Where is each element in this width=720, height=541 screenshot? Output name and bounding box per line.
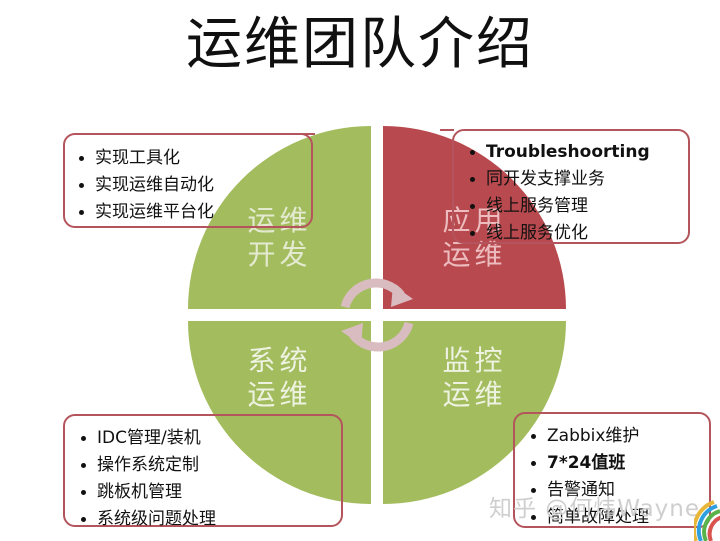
list-item: 系统级问题处理 <box>77 506 341 533</box>
list-item: 告警通知 <box>527 477 709 504</box>
list-item: 操作系统定制 <box>77 452 341 479</box>
list-item: IDC管理/装机 <box>77 425 341 452</box>
callout-list-bottom-left: IDC管理/装机 操作系统定制 跳板机管理 系统级问题处理 <box>65 416 341 533</box>
list-item: 线上服务优化 <box>466 220 688 247</box>
page-title: 运维团队介绍 <box>0 12 720 78</box>
slide-canvas: 运维团队介绍 运维 开发 应用 运维 系统 运维 监控 运维 <box>0 0 720 541</box>
callout-box-top-right[interactable]: Troubleshoorting 同开发支撑业务 线上服务管理 线上服务优化 <box>452 129 690 244</box>
list-item: 7*24值班 <box>527 450 709 477</box>
list-item: 实现运维自动化 <box>75 172 311 199</box>
list-item: 线上服务管理 <box>466 193 688 220</box>
list-item: 跳板机管理 <box>77 479 341 506</box>
list-item: 简单故障处理 <box>527 504 709 531</box>
callout-box-bottom-left[interactable]: IDC管理/装机 操作系统定制 跳板机管理 系统级问题处理 <box>63 414 343 527</box>
callout-list-top-right: Troubleshoorting 同开发支撑业务 线上服务管理 线上服务优化 <box>454 131 688 247</box>
callout-list-bottom-right: Zabbix维护 7*24值班 告警通知 简单故障处理 <box>515 414 709 531</box>
zhihu-logo-icon <box>694 498 720 541</box>
list-item: Troubleshoorting <box>466 139 688 166</box>
list-item: Zabbix维护 <box>527 423 709 450</box>
list-item: 同开发支撑业务 <box>466 166 688 193</box>
callout-box-top-left[interactable]: 实现工具化 实现运维自动化 实现运维平台化 <box>63 133 313 228</box>
callout-box-bottom-right[interactable]: Zabbix维护 7*24值班 告警通知 简单故障处理 <box>513 412 711 528</box>
callout-list-top-left: 实现工具化 实现运维自动化 实现运维平台化 <box>65 135 311 226</box>
list-item: 实现工具化 <box>75 145 311 172</box>
cycle-arrows-icon <box>331 269 423 361</box>
list-item: 实现运维平台化 <box>75 199 311 226</box>
